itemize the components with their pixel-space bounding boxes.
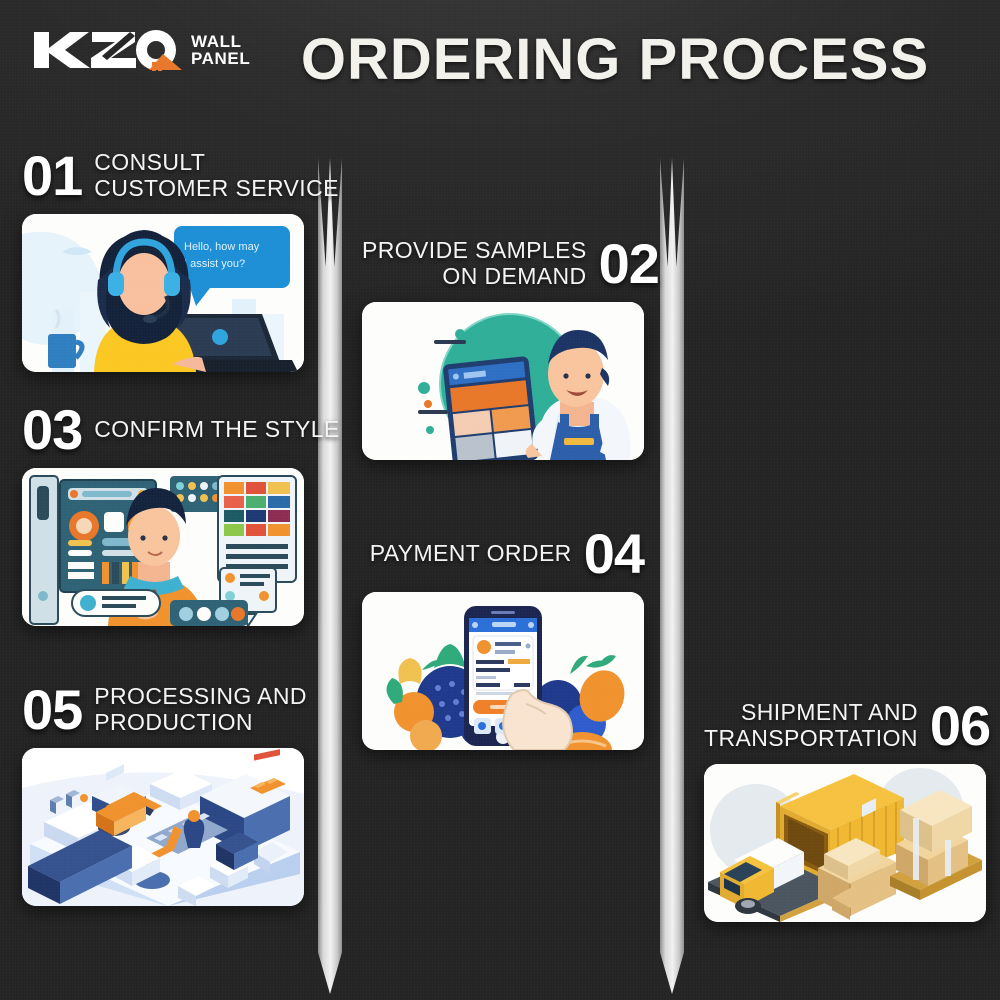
step-01-image: Hello, how may I assist you? — [22, 214, 304, 372]
step-06: SHIPMENT AND TRANSPORTATION 06 — [704, 700, 990, 922]
step-03-image — [22, 468, 304, 626]
step-06-label: SHIPMENT AND TRANSPORTATION — [704, 700, 918, 752]
step-02: PROVIDE SAMPLES ON DEMAND 02 — [362, 238, 659, 460]
step-02-image — [362, 302, 644, 460]
step-01-number: 01 — [22, 150, 82, 202]
step-02-label: PROVIDE SAMPLES ON DEMAND — [362, 238, 587, 290]
step-02-number: 02 — [599, 238, 659, 290]
step-04-image — [362, 592, 644, 750]
step-06-image — [704, 764, 986, 922]
step-04: PAYMENT ORDER 04 — [362, 528, 644, 750]
step-02-header: PROVIDE SAMPLES ON DEMAND 02 — [362, 238, 659, 290]
svg-text:I assist you?: I assist you? — [184, 258, 245, 270]
step-03-label: CONFIRM THE STYLE — [94, 417, 339, 443]
step-03: 03 CONFIRM THE STYLE — [22, 404, 340, 626]
step-05-header: 05 PROCESSING AND PRODUCTION — [22, 684, 307, 736]
step-05-number: 05 — [22, 684, 82, 736]
step-03-header: 03 CONFIRM THE STYLE — [22, 404, 340, 456]
step-06-header: SHIPMENT AND TRANSPORTATION 06 — [704, 700, 990, 752]
step-04-header: PAYMENT ORDER 04 — [362, 528, 644, 580]
poster-header: WALL PANEL ORDERING PROCESS — [0, 0, 1000, 120]
step-01-header: 01 CONSULT CUSTOMER SERVICE — [22, 150, 339, 202]
step-05-image — [22, 748, 304, 906]
step-05-label: PROCESSING AND PRODUCTION — [94, 684, 307, 736]
infographic-poster: WALL PANEL ORDERING PROCESS 01 CONSULT C… — [0, 0, 1000, 1000]
step-01-label: CONSULT CUSTOMER SERVICE — [94, 150, 339, 202]
step-04-number: 04 — [584, 528, 644, 580]
page-title: ORDERING PROCESS — [0, 26, 1000, 93]
step-05: 05 PROCESSING AND PRODUCTION — [22, 684, 307, 906]
step-03-number: 03 — [22, 404, 82, 456]
step-04-label: PAYMENT ORDER — [370, 541, 572, 567]
svg-text:Hello, how may: Hello, how may — [184, 241, 260, 253]
step-01: 01 CONSULT CUSTOMER SERVICE Hello, how m… — [22, 150, 339, 372]
step-06-number: 06 — [930, 700, 990, 752]
divider-bar-right — [660, 158, 684, 994]
